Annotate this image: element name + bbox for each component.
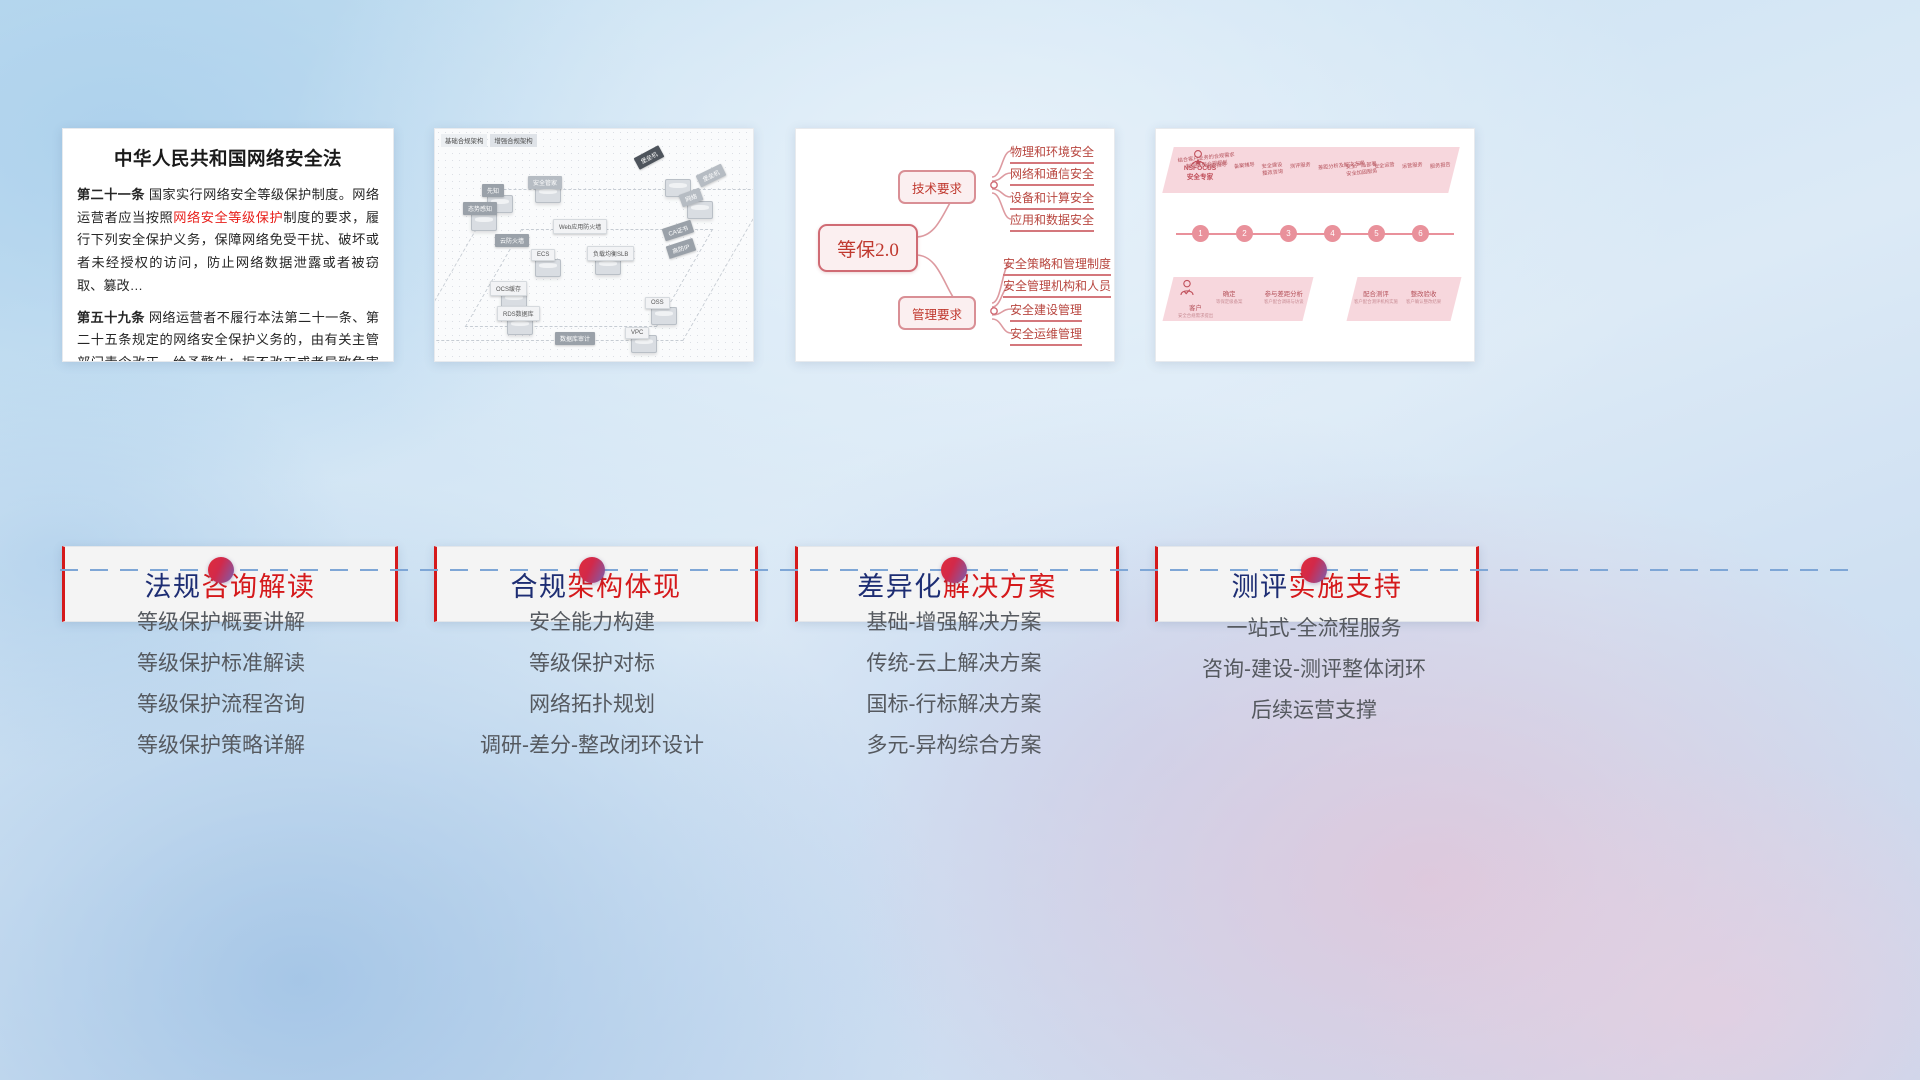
mindmap-leaf: 应用和数据安全: [1010, 211, 1094, 232]
mindmap-leaf: 设备和计算安全: [1010, 189, 1094, 210]
pillar-button-label-prefix: 合规: [511, 572, 568, 602]
pillar-button-label-prefix: 测评: [1232, 572, 1289, 602]
roadmap-bottom-item-sub: 安全合规需求提出: [1178, 313, 1213, 319]
mindmap-leaf: 安全策略和管理制度: [1003, 255, 1111, 276]
mindmap-branch-management: 管理要求: [898, 296, 976, 330]
law-article-number: 第五十九条: [77, 310, 145, 325]
pillar-button-label-prefix: 法规: [145, 572, 202, 602]
architecture-node: 数据库审计: [555, 332, 595, 345]
law-paragraph: 第五十九条 网络运营者不履行本法第二十一条、第二十五条规定的网络安全保护义务的，…: [77, 307, 379, 362]
timeline-dot-3[interactable]: [941, 557, 967, 583]
roadmap-top-step: 安全建设整改咨询: [1261, 162, 1283, 177]
roadmap-step-number: 1: [1192, 225, 1209, 242]
architecture-node: 先知: [482, 184, 504, 197]
mindmap-leaf: 安全管理机构和人员: [1003, 277, 1111, 298]
server-cube: [471, 213, 497, 231]
roadmap-step-number: 6: [1412, 225, 1429, 242]
architecture-node: VPC: [625, 327, 649, 339]
law-paragraph: 第二十一条 国家实行网络安全等级保护制度。网络运营者应当按照网络安全等级保护制度…: [77, 184, 379, 298]
architecture-canvas: 基础合规架构 增强合规架构 堡垒机安全管家先知态势感知堡垒机网络CA证书高防IP…: [435, 129, 753, 361]
roadmap-step-number: 5: [1368, 225, 1385, 242]
pillar-list-item: 咨询-建设-测评整体闭环: [1064, 659, 1564, 680]
roadmap-canvas: NSFOCUS 安全专家 结合客户业务的合规需求制定等保合规规划定级指导备案辅导…: [1156, 129, 1474, 361]
roadmap-bottom-item-sub: 客户配合调研与访谈: [1264, 299, 1304, 305]
roadmap-bottom-item-sub: 等保定级备案: [1216, 299, 1242, 305]
server-cube: [651, 307, 677, 325]
mindmap-root-node: 等保2.0: [818, 224, 918, 272]
tab-basic-compliance[interactable]: 基础合规架构: [441, 134, 487, 147]
architecture-node: ECS: [531, 249, 555, 261]
mindmap-card: 等保2.0 技术要求 管理要求 物理和环境安全 网络和通信安全 设备和计算安全 …: [795, 128, 1115, 362]
roadmap-bottom-item: 参与差距分析客户配合调研与访谈: [1264, 291, 1304, 305]
expert-label-line2: 安全专家: [1187, 174, 1213, 181]
architecture-node: 安全管家: [528, 176, 562, 189]
law-card-title: 中华人民共和国网络安全法: [63, 145, 393, 171]
architecture-node: OSS: [645, 297, 670, 309]
server-cube: [535, 259, 561, 277]
pillar-assessment-list: 一站式-全流程服务咨询-建设-测评整体闭环后续运营支撑: [1064, 618, 1564, 741]
mindmap-leaf: 安全建设管理: [1010, 301, 1082, 322]
roadmap-bottom-item-sub: 客户确认整改结果: [1406, 299, 1441, 305]
law-text-card: 中华人民共和国网络安全法 第二十一条 国家实行网络安全等级保护制度。网络运营者应…: [62, 128, 394, 362]
architecture-tabs: 基础合规架构 增强合规架构: [441, 134, 537, 147]
mindmap-canvas: 等保2.0 技术要求 管理要求 物理和环境安全 网络和通信安全 设备和计算安全 …: [796, 129, 1114, 361]
law-highlight-text: 网络安全等级保护: [173, 210, 283, 225]
roadmap-step-number: 2: [1236, 225, 1253, 242]
pillar-list-item: 后续运营支撑: [1064, 700, 1564, 721]
pillar-list-item: 一站式-全流程服务: [1064, 618, 1564, 639]
roadmap-step-number: 4: [1324, 225, 1341, 242]
architecture-node: OCS缓存: [490, 281, 527, 296]
roadmap-bottom-item: 确定等保定级备案: [1216, 291, 1242, 305]
mindmap-leaf: 物理和环境安全: [1010, 143, 1094, 164]
roadmap-bottom-item-sub: 客户配合测评机构实施: [1354, 299, 1398, 305]
law-card-body: 第二十一条 国家实行网络安全等级保护制度。网络运营者应当按照网络安全等级保护制度…: [63, 184, 393, 362]
pillar-button-label-prefix: 差异化: [857, 572, 943, 602]
architecture-node: 态势感知: [463, 202, 497, 215]
timeline-dot-2[interactable]: [579, 557, 605, 583]
architecture-node: Web应用防火墙: [553, 219, 607, 234]
architecture-node: 负载均衡SLB: [587, 246, 634, 261]
mindmap-leaf: 网络和通信安全: [1010, 165, 1094, 186]
roadmap-card: NSFOCUS 安全专家 结合客户业务的合规需求制定等保合规规划定级指导备案辅导…: [1155, 128, 1475, 362]
law-article-number: 第二十一条: [77, 187, 145, 202]
architecture-node: RDS数据库: [497, 306, 540, 321]
mindmap-branch-technical: 技术要求: [898, 170, 976, 204]
customer-person-icon: [1178, 279, 1196, 296]
timeline-dot-1[interactable]: [208, 557, 234, 583]
roadmap-bottom-item: 客户安全合规需求提出: [1178, 305, 1213, 319]
timeline-dot-4[interactable]: [1301, 557, 1327, 583]
roadmap-bottom-item: 整改验收客户确认整改结果: [1406, 291, 1441, 305]
roadmap-bottom-item: 配合测评客户配合测评机构实施: [1354, 291, 1398, 305]
mindmap-leaf: 安全运维管理: [1010, 325, 1082, 346]
architecture-node: 云防火墙: [495, 234, 529, 247]
roadmap-step-number: 3: [1280, 225, 1297, 242]
tab-enhanced-compliance[interactable]: 增强合规架构: [490, 134, 536, 147]
cloud-architecture-card: 基础合规架构 增强合规架构 堡垒机安全管家先知态势感知堡垒机网络CA证书高防IP…: [434, 128, 754, 362]
